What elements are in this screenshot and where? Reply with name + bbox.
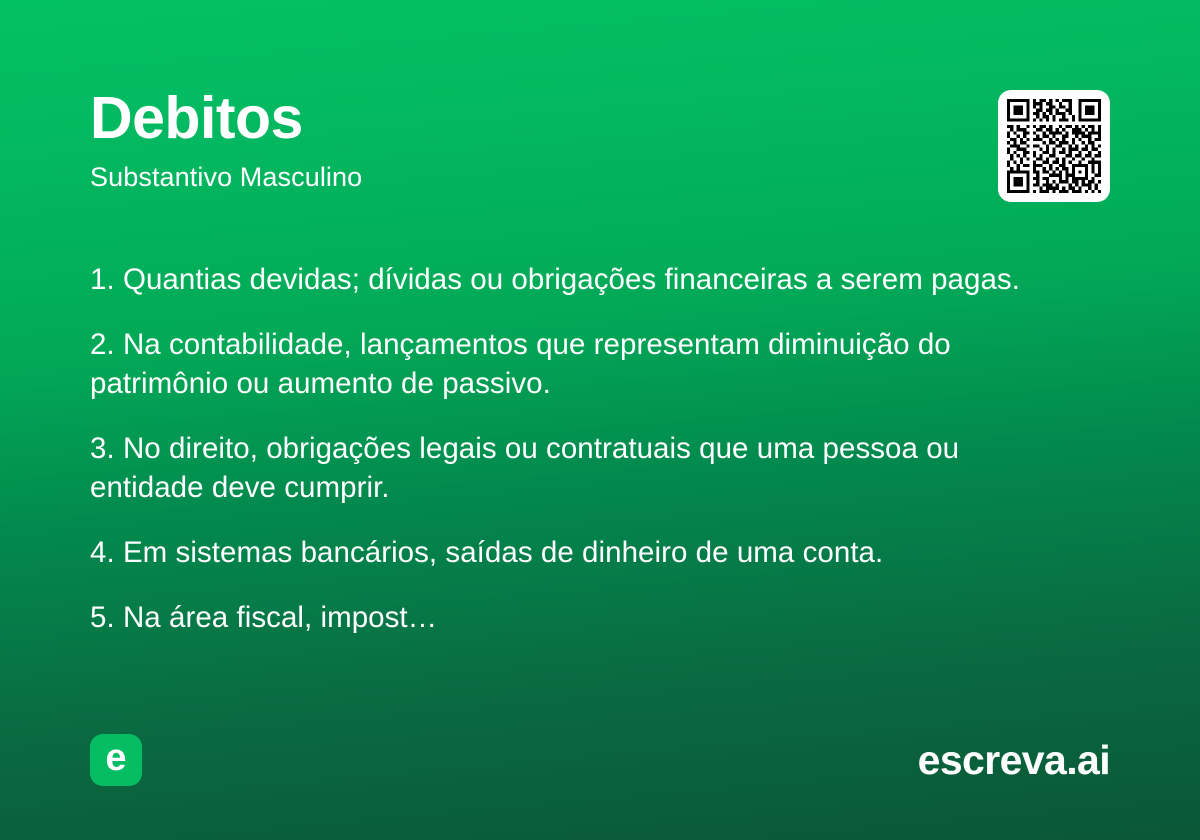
definition-item: 5. Na área fiscal, impost… (90, 598, 1075, 637)
definition-item: 4. Em sistemas bancários, saídas de dinh… (90, 533, 1075, 572)
dictionary-card: Debitos Substantivo Masculino (0, 0, 1200, 840)
definition-item: 2. Na contabilidade, lançamentos que rep… (90, 325, 1075, 403)
escreva-logo-icon[interactable]: e (90, 734, 142, 786)
card-header: Debitos Substantivo Masculino (90, 88, 1110, 208)
definition-item: 3. No direito, obrigações legais ou cont… (90, 429, 1075, 507)
card-footer: e escreva.ai (90, 732, 1110, 788)
logo-letter: e (105, 739, 126, 777)
definitions-list: 1. Quantias devidas; dívidas ou obrigaçõ… (90, 260, 1075, 637)
part-of-speech-label: Substantivo Masculino (90, 162, 1110, 193)
qr-code-icon (1007, 99, 1101, 193)
qr-code[interactable] (998, 90, 1110, 202)
definition-item: 1. Quantias devidas; dívidas ou obrigaçõ… (90, 260, 1075, 299)
page-title: Debitos (90, 88, 1110, 148)
brand-name: escreva.ai (918, 737, 1110, 784)
